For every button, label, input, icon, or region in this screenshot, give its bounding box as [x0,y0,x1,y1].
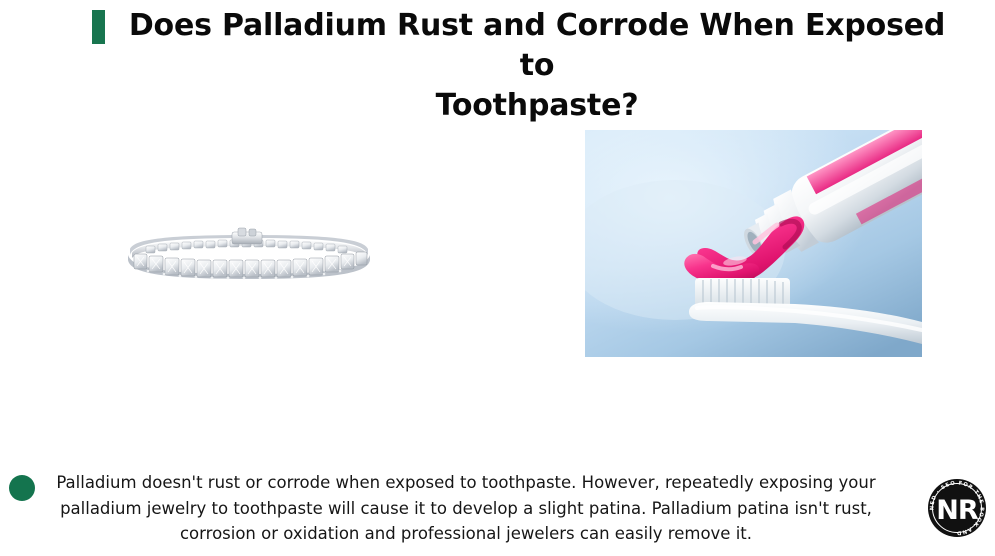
page-title: Does Palladium Rust and Corrode When Exp… [92,6,952,126]
body-block: Palladium doesn't rust or corrode when e… [0,470,910,547]
page-title-line-2: Toothpaste? [122,86,952,126]
title-block: Does Palladium Rust and Corrode When Exp… [92,6,952,126]
logo-monogram: NR [936,495,979,526]
brand-logo: DETERMINED · SEO FOR THE BOOK AND NR [926,477,988,539]
toothpaste-image [585,130,922,357]
title-accent-bar [92,10,105,44]
bullet-point-icon [9,475,35,501]
page-title-line-1: Does Palladium Rust and Corrode When Exp… [122,6,952,86]
body-paragraph: Palladium doesn't rust or corrode when e… [0,470,910,547]
bracelet-image [120,222,378,296]
